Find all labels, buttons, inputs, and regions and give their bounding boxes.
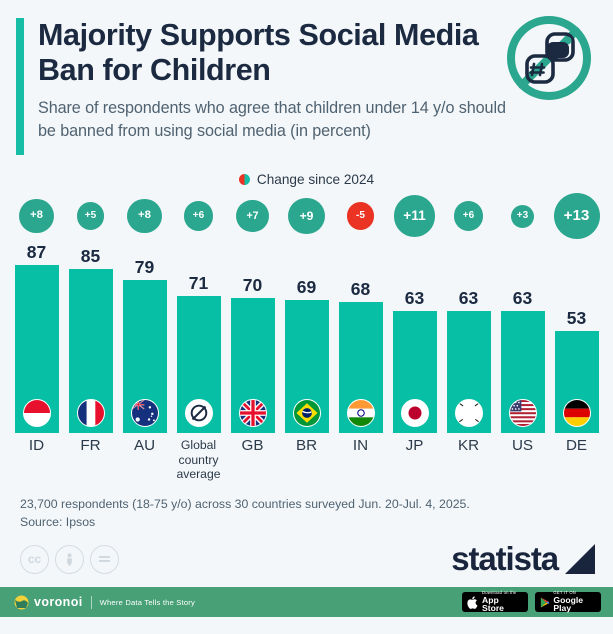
bar-value-us: 63: [513, 288, 532, 309]
legend-dot-icon: [239, 174, 250, 185]
change-badge-slot: -5: [347, 190, 375, 242]
bar-area: 63: [446, 242, 491, 433]
x-axis-label-de: DE: [566, 438, 587, 490]
flag-united-kingdom: [239, 399, 267, 427]
change-badge-kr: +6: [454, 201, 484, 231]
google-play-label: Google Play: [553, 596, 596, 613]
statista-wordmark: statista: [451, 540, 558, 578]
flag-japan: [401, 399, 429, 427]
change-badge-slot: +6: [184, 190, 214, 242]
google-play-icon: [540, 596, 549, 609]
change-badge-slot: +5: [77, 190, 105, 242]
bar-global: [177, 296, 221, 433]
flag-france: [77, 399, 105, 427]
chart-column-br: +969BR: [284, 190, 329, 490]
x-axis-label-us: US: [512, 438, 533, 490]
change-badge-slot: +7: [236, 190, 268, 242]
x-axis-label-br: BR: [296, 438, 317, 490]
chart-column-id: +887ID: [14, 190, 59, 490]
bar-value-kr: 63: [459, 288, 478, 309]
footnote-line-1: 23,700 respondents (18-75 y/o) across 30…: [20, 496, 593, 514]
flag-germany: [563, 399, 591, 427]
bar-fr: [69, 269, 113, 433]
footnote-source: Source: Ipsos: [20, 514, 593, 532]
flag-australia: [131, 399, 159, 427]
bar-value-au: 79: [135, 257, 154, 278]
header: Majority Supports Social Media Ban for C…: [0, 0, 613, 172]
bar-area: 68: [338, 242, 383, 433]
change-badge-slot: +8: [127, 190, 162, 242]
x-axis-label-jp: JP: [406, 438, 424, 490]
bar-value-fr: 85: [81, 246, 100, 267]
change-badge-slot: +6: [454, 190, 484, 242]
page-subtitle: Share of respondents who agree that chil…: [38, 97, 508, 143]
chart-column-fr: +585FR: [68, 190, 113, 490]
flag-india: [347, 399, 375, 427]
bar-value-id: 87: [27, 242, 46, 263]
google-play-button[interactable]: GET IT ON Google Play: [535, 592, 601, 612]
change-badge-gb: +7: [236, 200, 268, 232]
voronoi-tagline: Where Data Tells the Story: [100, 598, 195, 607]
bar-au: [123, 280, 167, 433]
change-badge-slot: +3: [511, 190, 534, 242]
no-social-media-icon: [503, 12, 595, 104]
change-badge-slot: +8: [19, 190, 54, 242]
flag-brazil: [293, 399, 321, 427]
bar-area: 63: [392, 242, 437, 433]
cc-nd-equals-icon: [90, 545, 119, 574]
x-axis-label-gb: GB: [242, 438, 264, 490]
chart-column-kr: +663KR: [446, 190, 491, 490]
x-axis-label-id: ID: [29, 438, 44, 490]
flag-united-states: [509, 399, 537, 427]
bar-gb: [231, 298, 275, 433]
change-badge-au: +8: [127, 199, 162, 234]
change-badge-slot: +13: [554, 190, 600, 242]
statista-logo: statista: [451, 540, 595, 578]
bar-area: 87: [14, 242, 59, 433]
bar-area: 85: [68, 242, 113, 433]
cc-icon: cc: [20, 545, 49, 574]
accent-bar: [16, 18, 24, 155]
change-badge-fr: +5: [77, 202, 105, 230]
bar-value-br: 69: [297, 277, 316, 298]
globe-average-icon: [185, 399, 213, 427]
change-badge-id: +8: [19, 199, 54, 234]
voronoi-globe-icon: [14, 595, 29, 610]
bar-area: 63: [500, 242, 545, 433]
change-badge-de: +13: [554, 193, 600, 239]
bar-area: 79: [122, 242, 167, 433]
bar-value-gb: 70: [243, 275, 262, 296]
bar-br: [285, 300, 329, 433]
x-axis-label-kr: KR: [458, 438, 479, 490]
chart-column-in: -568IN: [338, 190, 383, 490]
change-badge-slot: +9: [288, 190, 325, 242]
brand-row: cc statista: [0, 531, 613, 587]
creative-commons-icons: cc: [20, 545, 119, 574]
page-title: Majority Supports Social Media Ban for C…: [38, 18, 508, 88]
bar-kr: [447, 311, 491, 433]
bar-area: 53: [554, 242, 599, 433]
change-badge-in: -5: [347, 202, 375, 230]
x-axis-label-fr: FR: [80, 438, 100, 490]
x-axis-label-global: Global country average: [176, 438, 221, 490]
cc-by-person-icon: [55, 545, 84, 574]
bar-area: 70: [230, 242, 275, 433]
bar-jp: [393, 311, 437, 433]
footnote: 23,700 respondents (18-75 y/o) across 30…: [0, 490, 613, 531]
statista-mark-icon: [561, 544, 595, 574]
change-badge-us: +3: [511, 205, 534, 228]
voronoi-name: voronoi: [34, 595, 83, 609]
app-store-button[interactable]: Download on the App Store: [462, 592, 528, 612]
chart-column-gb: +770GB: [230, 190, 275, 490]
chart-column-global: +671Global country average: [176, 190, 221, 490]
x-axis-label-in: IN: [353, 438, 368, 490]
bar-chart: +887ID+585FR+879AU+671Global country ave…: [0, 190, 613, 490]
divider: [91, 596, 92, 609]
flag-south-korea: [455, 399, 483, 427]
bar-value-in: 68: [351, 279, 370, 300]
bar-area: 71: [176, 242, 221, 433]
chart-column-jp: +1163JP: [392, 190, 437, 490]
bar-area: 69: [284, 242, 329, 433]
change-badge-global: +6: [184, 201, 214, 231]
x-axis-label-au: AU: [134, 438, 155, 490]
flag-indonesia: [23, 399, 51, 427]
legend-label: Change since 2024: [257, 172, 374, 187]
bar-value-global: 71: [189, 273, 208, 294]
voronoi-footer: voronoi Where Data Tells the Story Downl…: [0, 587, 613, 617]
bar-value-de: 53: [567, 308, 586, 329]
bar-value-jp: 63: [405, 288, 424, 309]
change-badge-br: +9: [288, 198, 325, 235]
chart-column-au: +879AU: [122, 190, 167, 490]
infographic-page: Majority Supports Social Media Ban for C…: [0, 0, 613, 634]
app-store-label: App Store: [482, 596, 523, 613]
bar-id: [15, 265, 59, 433]
chart-column-us: +363US: [500, 190, 545, 490]
voronoi-logo: voronoi: [14, 595, 83, 610]
change-badge-slot: +11: [394, 190, 435, 242]
bar-de: [555, 331, 599, 433]
bar-in: [339, 302, 383, 433]
chart-column-de: +1353DE: [554, 190, 599, 490]
bar-us: [501, 311, 545, 433]
change-badge-jp: +11: [394, 195, 435, 236]
apple-icon: [467, 596, 478, 609]
app-store-badges: Download on the App Store GET IT ON Goog…: [462, 592, 601, 612]
